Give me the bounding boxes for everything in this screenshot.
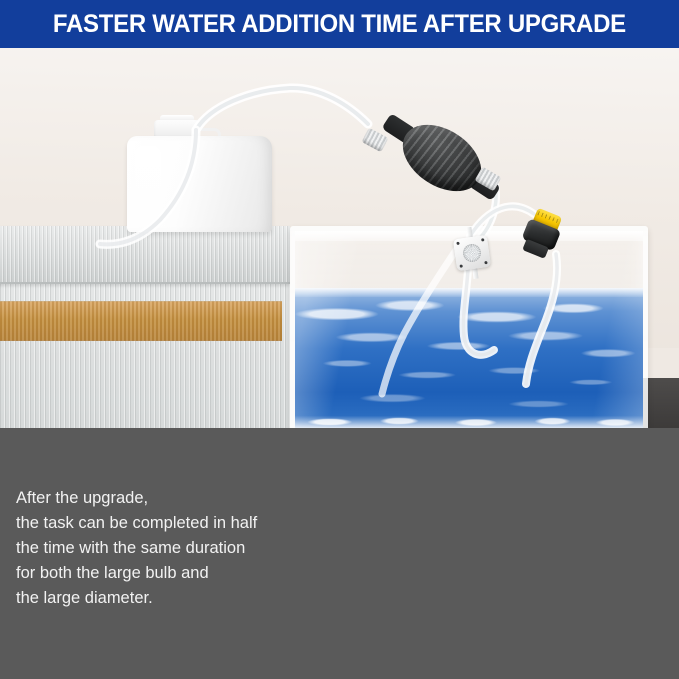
header-banner: FASTER WATER ADDITION TIME AFTER UPGRADE <box>0 0 679 48</box>
caption-line-4: for both the large bulb and <box>16 561 308 586</box>
main-scene-photo <box>0 48 679 430</box>
caption-line-2: the task can be completed in half <box>16 511 308 536</box>
valve-screw-icon <box>460 264 463 267</box>
caption-panel: After the upgrade, the task can be compl… <box>0 428 679 679</box>
page-title: FASTER WATER ADDITION TIME AFTER UPGRADE <box>53 10 626 39</box>
valve-knob <box>462 243 482 263</box>
valve-screw-icon <box>484 261 487 264</box>
flow-control-valve <box>453 235 491 271</box>
siphon-tubing-overlay <box>0 48 679 430</box>
caption-line-1: After the upgrade, <box>16 486 308 511</box>
caption-line-3: the time with the same duration <box>16 536 308 561</box>
product-infographic: FASTER WATER ADDITION TIME AFTER UPGRADE <box>0 0 679 679</box>
valve-plate <box>453 235 491 271</box>
caption-text-block: After the upgrade, the task can be compl… <box>16 486 308 611</box>
caption-line-5: the large diameter. <box>16 586 308 611</box>
valve-screw-icon <box>456 242 459 245</box>
valve-screw-icon <box>481 238 484 241</box>
